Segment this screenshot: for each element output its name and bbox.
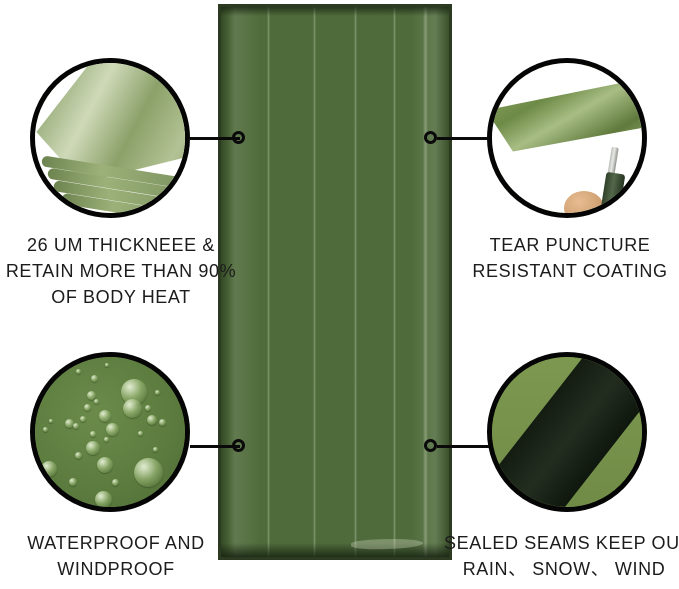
caption-line: WINDPROOF (0, 556, 232, 582)
folded-sheet-photo (35, 63, 185, 213)
water-droplet (76, 369, 81, 374)
water-droplet (147, 415, 157, 425)
water-droplet (159, 419, 166, 426)
connector-ring-sealed-seams (424, 439, 437, 452)
callout-circle-thickness (30, 58, 190, 218)
callout-circle-tear-resistance (487, 58, 647, 218)
sealed-seam-photo (492, 357, 642, 507)
caption-thickness: 26 UM THICKNEEE & RETAIN MORE THAN 90% O… (0, 232, 246, 310)
water-droplet (153, 447, 158, 452)
leader-line-tear-resistance (437, 137, 489, 140)
caption-line: SEALED SEAMS KEEP OUT (444, 530, 679, 556)
tear-test-photo (492, 63, 642, 213)
water-droplet (155, 390, 160, 395)
caption-line: OF BODY HEAT (0, 284, 246, 310)
product-crease (267, 7, 270, 557)
connector-ring-waterproof (232, 439, 245, 452)
caption-waterproof: WATERPROOF AND WINDPROOF (0, 530, 232, 582)
product-crease (423, 7, 428, 557)
water-droplets-photo (35, 357, 185, 507)
egg-object (564, 191, 604, 218)
water-droplet (145, 405, 151, 411)
water-droplet (43, 427, 48, 432)
connector-ring-thickness (232, 131, 245, 144)
water-droplet (112, 479, 119, 486)
water-droplet (97, 457, 113, 473)
product-top-edge (221, 7, 449, 16)
connector-ring-tear-resistance (424, 131, 437, 144)
water-droplet (104, 437, 109, 442)
product-image-sleeping-bag (218, 4, 452, 560)
water-droplet (41, 461, 57, 477)
water-droplet (94, 399, 99, 404)
caption-line: 26 UM THICKNEEE & (0, 232, 246, 258)
caption-line: TEAR PUNCTURE (452, 232, 679, 258)
water-droplet (91, 375, 98, 382)
water-droplet (105, 363, 109, 367)
callout-circle-waterproof (30, 352, 190, 512)
water-droplet (73, 423, 79, 429)
water-droplet (123, 399, 142, 418)
water-droplet (84, 404, 91, 411)
caption-line: RAIN、 SNOW、 WIND (444, 556, 679, 582)
product-crease (393, 7, 396, 557)
caption-sealed-seams: SEALED SEAMS KEEP OUT RAIN、 SNOW、 WIND (444, 530, 679, 582)
water-droplet (86, 441, 100, 455)
droplet-layer (35, 357, 185, 507)
water-droplet (138, 431, 143, 436)
water-droplet (75, 452, 82, 459)
product-sheen (221, 7, 449, 557)
water-droplet (49, 419, 53, 423)
water-droplet (99, 410, 111, 422)
leader-line-sealed-seams (437, 445, 489, 448)
product-infographic: 26 UM THICKNEEE & RETAIN MORE THAN 90% O… (0, 0, 679, 589)
caption-line: WATERPROOF AND (0, 530, 232, 556)
water-droplet (80, 416, 86, 422)
product-crease (313, 7, 316, 557)
product-crease (354, 7, 357, 557)
water-droplet (95, 491, 112, 508)
caption-line: RETAIN MORE THAN 90% (0, 258, 246, 284)
caption-tear-resistance: TEAR PUNCTURE RESISTANT COATING (452, 232, 679, 284)
caption-line: RESISTANT COATING (452, 258, 679, 284)
callout-circle-sealed-seams (487, 352, 647, 512)
water-droplet (134, 458, 163, 487)
water-droplet (69, 478, 77, 486)
water-droplet (106, 423, 119, 436)
water-droplet (90, 431, 96, 437)
